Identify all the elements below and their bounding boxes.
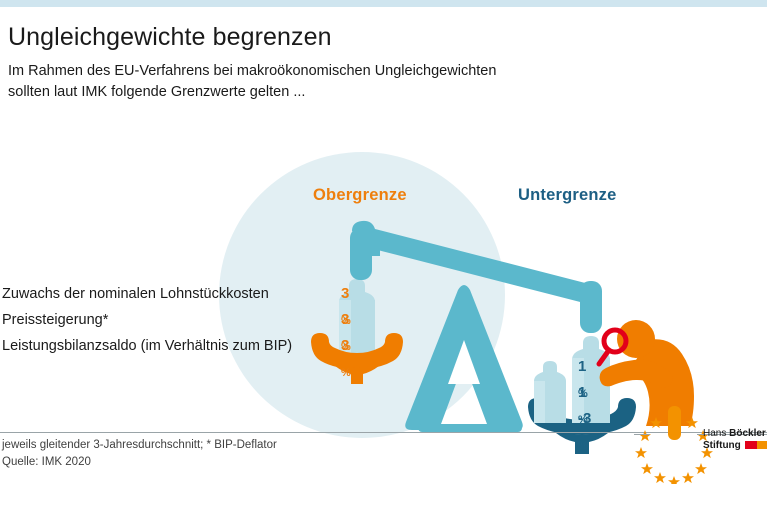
value-cell: 1 % [578, 380, 591, 406]
logo-rule-left [634, 434, 650, 435]
infographic-canvas: Ungleichgewichte begrenzen Im Rahmen des… [0, 0, 767, 525]
value-cell: -3 % [578, 406, 591, 432]
source-line: Quelle: IMK 2020 [2, 454, 422, 471]
footnote: jeweils gleitender 3-Jahresdurchschnitt;… [2, 437, 422, 471]
logo-line-1: Hans Böckler [703, 428, 766, 439]
value-cell: 3 % [341, 333, 351, 359]
value-cell: 3 % [341, 281, 351, 307]
weight-stack-icon [534, 336, 610, 423]
flag-bar-icon [745, 441, 767, 449]
logo-line-2: Stiftung [703, 440, 767, 452]
logo-wordmark: Hans Böckler Stiftung [703, 428, 767, 452]
triangle-fulcrum-icon [405, 285, 523, 432]
upper-limit-values: 3 % 3 % 3 % [341, 281, 351, 359]
value-cell: 1 % [578, 354, 591, 380]
footnote-line-1: jeweils gleitender 3-Jahresdurchschnitt;… [2, 439, 277, 451]
value-cell: 3 % [341, 307, 351, 333]
lower-limit-values: 1 % 1 % -3 % [578, 354, 591, 432]
